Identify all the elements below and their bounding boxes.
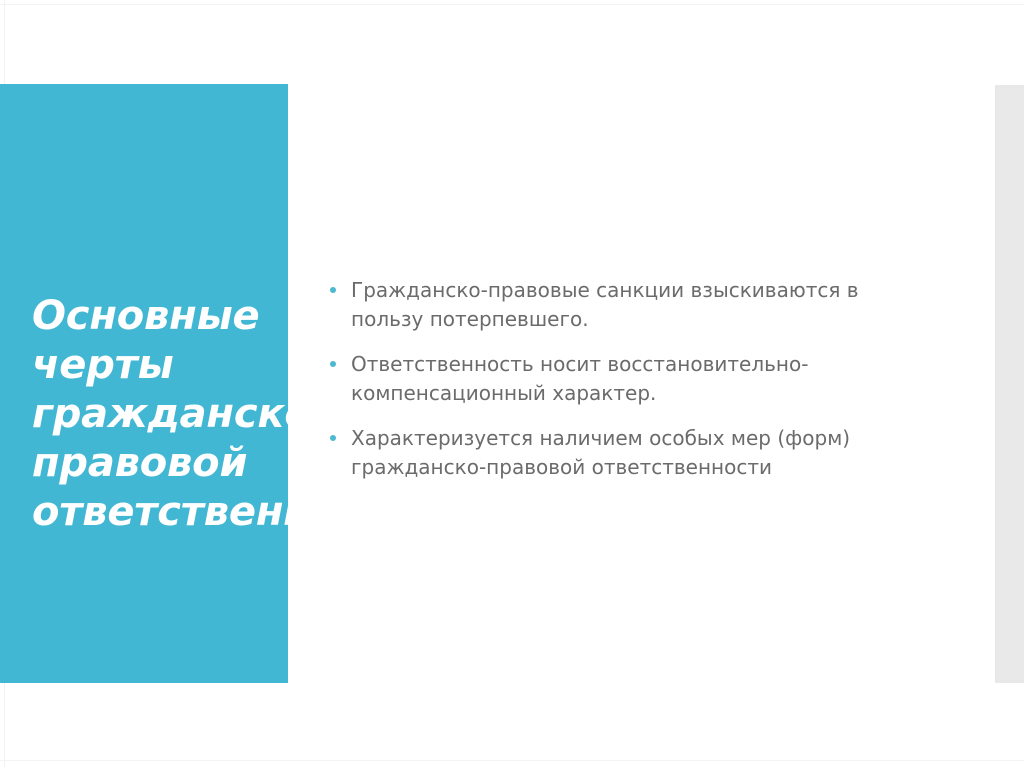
bullet-dot-icon <box>330 424 351 441</box>
list-item: Гражданско-правовые санкции взыскиваются… <box>330 276 930 334</box>
bullet-dot-icon <box>330 350 351 367</box>
bullet-dot-icon <box>330 276 351 293</box>
page-border-bottom <box>0 760 1024 761</box>
list-item-text: Гражданско-правовые санкции взыскиваются… <box>351 276 930 334</box>
title-panel: Основные черты гражданско-правовой ответ… <box>0 84 288 683</box>
list-item: Ответственность носит восстановительно-к… <box>330 350 930 408</box>
bullet-list: Гражданско-правовые санкции взыскиваются… <box>330 276 930 482</box>
list-item-text: Характеризуется наличием особых мер (фор… <box>351 424 930 482</box>
right-scroll-strip-thumb[interactable] <box>998 88 1024 680</box>
list-item-text: Ответственность носит восстановительно-к… <box>351 350 930 408</box>
page-border-top <box>0 4 1024 5</box>
list-item: Характеризуется наличием особых мер (фор… <box>330 424 930 482</box>
slide-title: Основные черты гражданско-правовой ответ… <box>32 292 276 537</box>
slide-canvas: Основные черты гражданско-правовой ответ… <box>0 0 1024 767</box>
